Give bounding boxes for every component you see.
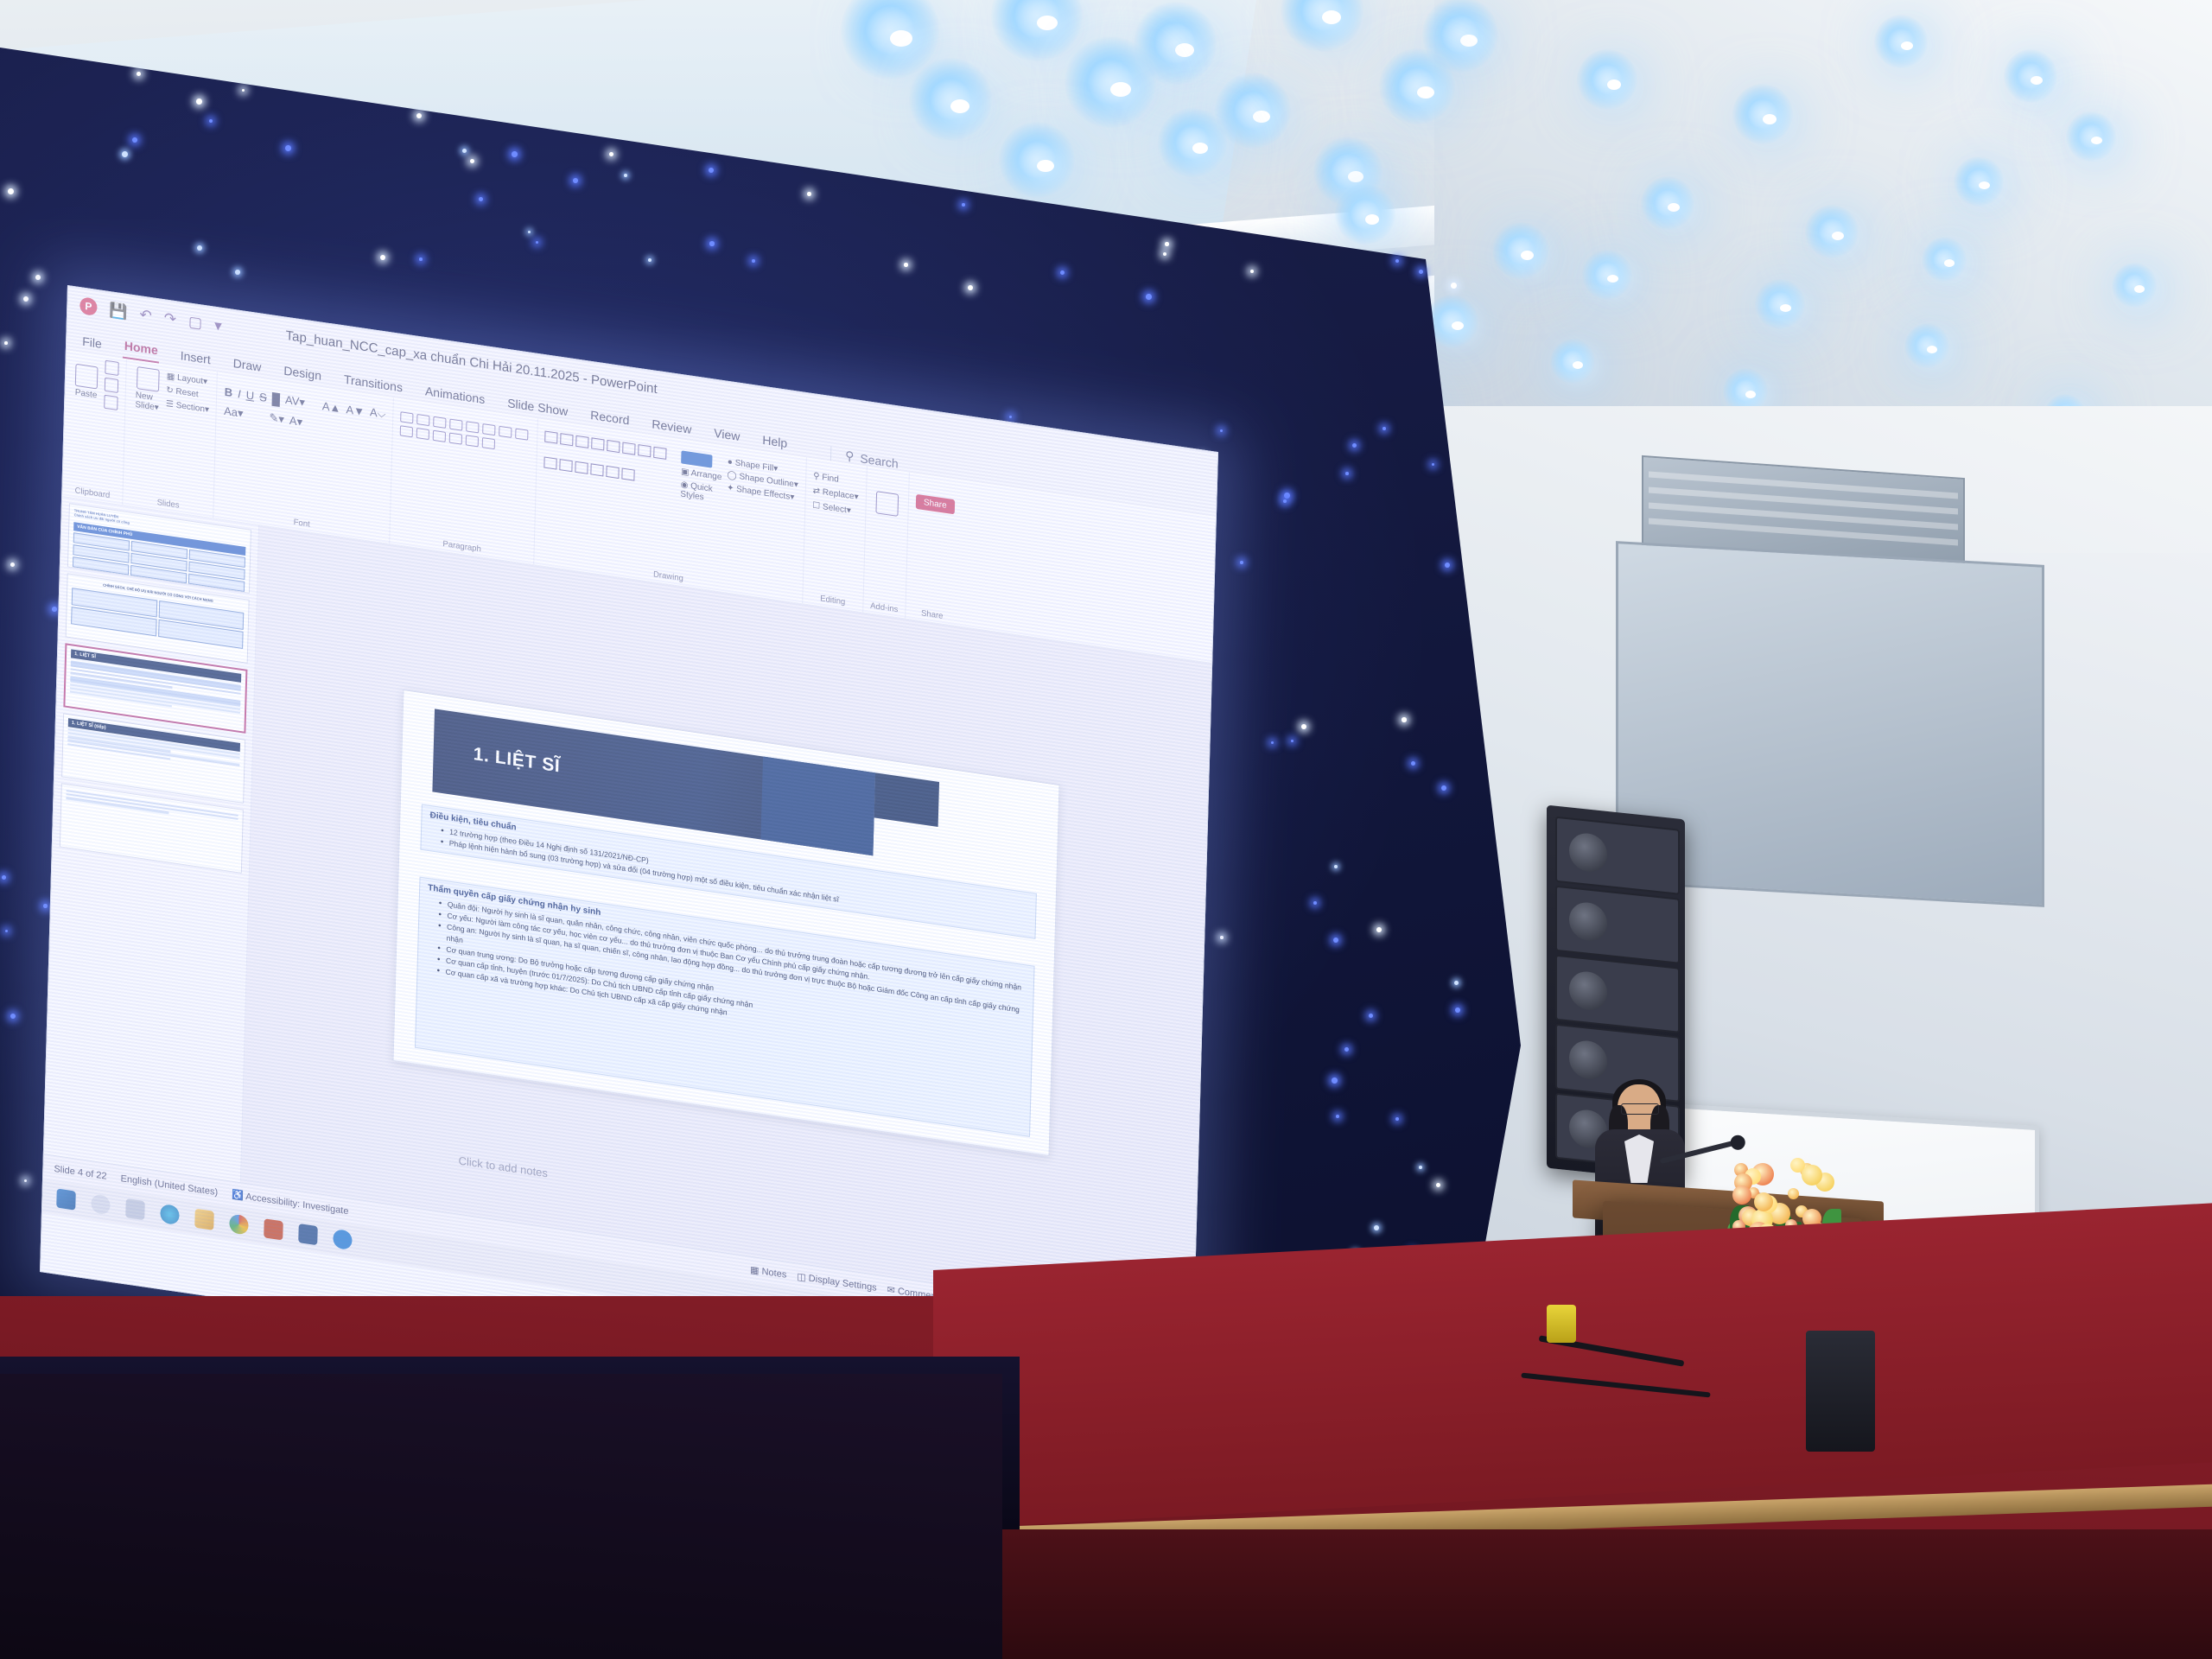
- word-icon[interactable]: [298, 1224, 318, 1245]
- star-light: [536, 241, 538, 244]
- text-highlight-button[interactable]: ✎▾: [269, 410, 284, 427]
- ceiling-downlight: [1348, 171, 1363, 182]
- star-light: [1301, 724, 1306, 729]
- star-light: [1369, 1014, 1373, 1018]
- star-light: [904, 263, 908, 267]
- ceiling-downlight: [1607, 79, 1621, 90]
- shadow-button[interactable]: █: [272, 391, 281, 405]
- ceiling-downlight: [1365, 214, 1379, 225]
- find-button[interactable]: ⚲ Find: [813, 472, 859, 488]
- star-light: [1313, 901, 1317, 905]
- present-icon[interactable]: ▢: [188, 314, 203, 330]
- star-light: [470, 159, 474, 163]
- star-light: [132, 137, 137, 143]
- select-button[interactable]: ☐ Select▾: [812, 501, 858, 518]
- share-button[interactable]: Share: [916, 494, 955, 514]
- star-light: [1334, 865, 1338, 868]
- powerpoint-logo-icon: P: [79, 296, 98, 316]
- quick-styles-button[interactable]: ◉ QuickStyles: [680, 480, 721, 505]
- speaker-cabinet-2: [1555, 886, 1680, 964]
- star-light: [1283, 499, 1287, 503]
- star-light: [285, 145, 291, 151]
- shape-scribble-icon[interactable]: [607, 465, 620, 478]
- shape-flow-icon[interactable]: [560, 459, 573, 472]
- ceiling-downlight: [2134, 285, 2145, 293]
- flower-bloom: [1754, 1192, 1773, 1211]
- star-light: [2, 875, 6, 880]
- search-icon: ⚲: [845, 448, 855, 464]
- ceiling-downlight-glow: [1582, 250, 1631, 299]
- ceiling-downlight: [1460, 35, 1478, 47]
- star-light: [1402, 717, 1407, 722]
- ceiling-downlight: [1322, 10, 1341, 24]
- replace-button[interactable]: ⇄ Replace▾: [813, 486, 859, 503]
- ceiling-downlight: [1452, 321, 1464, 330]
- slide-title-block-2: [874, 772, 939, 827]
- ribbon-group-addins[interactable]: Add-ins: [863, 467, 910, 619]
- redo-icon[interactable]: ↷: [164, 310, 177, 327]
- powerpoint-icon[interactable]: [264, 1218, 283, 1240]
- star-light: [1146, 294, 1152, 300]
- person-glasses: [1621, 1103, 1659, 1115]
- reset-button[interactable]: ↻ Reset: [166, 385, 209, 401]
- ceiling-downlight-glow: [1065, 36, 1156, 128]
- ceiling-downlight: [1573, 361, 1583, 369]
- shapes-gallery[interactable]: [543, 431, 677, 499]
- flower-bloom: [1732, 1185, 1751, 1205]
- yellow-cable-box: [1547, 1305, 1576, 1343]
- save-icon[interactable]: 💾: [109, 302, 128, 320]
- ceiling-downlight-glow: [1954, 156, 2003, 206]
- ceiling-downlight: [1832, 232, 1844, 240]
- italic-button[interactable]: I: [238, 386, 241, 400]
- star-light: [479, 197, 483, 201]
- star-light: [512, 151, 518, 157]
- floor-foreground-dark: [0, 1374, 1002, 1659]
- star-light: [752, 259, 755, 263]
- star-light: [807, 192, 811, 196]
- ceiling-downlight-glow: [909, 58, 993, 142]
- star-light: [235, 270, 240, 275]
- bullets-button[interactable]: [400, 411, 413, 423]
- star-light: [8, 188, 14, 194]
- star-light: [52, 607, 57, 612]
- columns-button[interactable]: [433, 430, 446, 442]
- ceiling-downlight: [1253, 111, 1270, 123]
- zalo-icon[interactable]: [333, 1229, 353, 1250]
- edge-icon[interactable]: [160, 1204, 180, 1225]
- strikethrough-button[interactable]: S: [259, 390, 267, 404]
- ceiling-downlight: [1668, 203, 1680, 212]
- ceiling-downlight-glow: [1732, 84, 1793, 144]
- star-light: [1352, 443, 1357, 448]
- increase-indent-button[interactable]: [449, 419, 462, 431]
- ceiling-downlight-glow: [1805, 205, 1859, 258]
- ceiling-downlight: [1745, 391, 1756, 398]
- ribbon-group-clipboard[interactable]: Paste Clipboard: [62, 350, 127, 505]
- ceiling-downlight-glow: [1755, 279, 1804, 328]
- shape-oval-icon[interactable]: [575, 435, 588, 448]
- shape-style-swatch[interactable]: [681, 450, 712, 467]
- shape-rectangle-icon[interactable]: [544, 431, 557, 444]
- notes-placeholder[interactable]: Click to add notes: [458, 1154, 548, 1179]
- ribbon-group-slides[interactable]: NewSlide▾ ▦ Layout▾ ↻ Reset ☰ Section▾ S…: [123, 359, 218, 518]
- ceiling-downlight-glow: [2066, 111, 2115, 161]
- speaker-cabinet-1: [1555, 817, 1680, 895]
- ceiling-downlight: [1944, 259, 1955, 267]
- shape-rounded-icon[interactable]: [560, 433, 573, 446]
- align-right-button[interactable]: [400, 425, 413, 437]
- shape-star-icon[interactable]: [638, 444, 651, 457]
- ceiling-downlight: [1607, 275, 1618, 283]
- ceiling-downlight: [1110, 82, 1131, 97]
- ribbon-group-editing[interactable]: ⚲ Find ⇄ Replace▾ ☐ Select▾ Editing: [803, 457, 868, 612]
- star-light: [4, 341, 8, 345]
- star-light: [419, 257, 423, 261]
- shape-arrow-icon[interactable]: [607, 440, 620, 453]
- change-case-button[interactable]: Aa▾: [224, 404, 244, 421]
- ceiling-downlight: [1521, 251, 1534, 260]
- slide-canvas[interactable]: 1. LIỆT SĨ Điều kiện, tiêu chuẩn 12 trườ…: [241, 525, 1211, 1320]
- ceiling-downlight: [1192, 143, 1208, 154]
- ceiling-downlight-glow: [1492, 222, 1549, 279]
- new-slide-icon: [137, 366, 160, 392]
- format-painter-icon[interactable]: [104, 395, 118, 410]
- ceiling-downlight-glow: [2004, 49, 2057, 103]
- justify-button[interactable]: [416, 428, 429, 440]
- ceiling-downlight: [1175, 43, 1194, 57]
- ceiling-downlight: [1417, 86, 1434, 99]
- star-light: [1455, 1007, 1460, 1013]
- decrease-font-button[interactable]: A▼: [346, 403, 365, 418]
- underline-button[interactable]: U: [246, 388, 255, 402]
- star-light: [137, 72, 141, 76]
- smartart-extra-button[interactable]: [482, 437, 495, 449]
- ribbon-group-paragraph[interactable]: Paragraph: [390, 397, 538, 564]
- section-button[interactable]: ☰ Section▾: [166, 399, 209, 415]
- ribbon-group-share[interactable]: Share Share: [906, 473, 962, 626]
- paste-icon: [75, 363, 99, 389]
- star-light: [1376, 927, 1382, 932]
- star-light: [1220, 936, 1224, 939]
- star-light: [122, 151, 128, 157]
- star-light: [23, 296, 29, 302]
- star-light: [709, 241, 715, 246]
- copy-icon[interactable]: [105, 378, 118, 393]
- shape-curve-icon[interactable]: [575, 461, 588, 474]
- slide-thumbnail-pane[interactable]: 1 TRUNG TÂM HUẤN LUYỆNChính sách ưu đãi …: [44, 497, 259, 1182]
- star-light: [1345, 472, 1349, 475]
- ceiling-downlight-glow: [999, 122, 1075, 198]
- ceiling-downlight: [1037, 16, 1058, 30]
- star-light: [1336, 1115, 1339, 1118]
- star-light: [1382, 427, 1386, 430]
- layout-button[interactable]: ▦ Layout▾: [167, 372, 210, 387]
- ceiling-downlight-glow: [1641, 176, 1694, 230]
- search-icon[interactable]: [91, 1193, 111, 1215]
- star-light: [43, 904, 48, 908]
- increase-font-button[interactable]: A▲: [322, 399, 341, 415]
- star-light: [1284, 493, 1290, 499]
- star-light: [416, 113, 422, 118]
- star-light: [962, 203, 965, 207]
- ceiling-downlight: [1979, 181, 1990, 189]
- ceiling-downlight: [1927, 346, 1937, 353]
- ceiling-downlight: [890, 30, 912, 47]
- shape-triangle-icon[interactable]: [591, 437, 604, 450]
- star-light: [609, 152, 613, 156]
- star-light: [10, 563, 15, 567]
- ceiling-downlight: [1037, 160, 1054, 172]
- star-light: [1271, 741, 1274, 744]
- current-slide[interactable]: 1. LIỆT SĨ Điều kiện, tiêu chuẩn 12 trườ…: [392, 690, 1059, 1156]
- floor-monitor-speaker: [1806, 1331, 1875, 1452]
- bold-button[interactable]: B: [224, 385, 232, 398]
- slide-title-block: [760, 756, 875, 855]
- shape-line-icon[interactable]: [622, 442, 635, 455]
- notes-button[interactable]: ▦ Notes: [750, 1264, 787, 1281]
- start-icon[interactable]: [56, 1188, 76, 1210]
- chrome-icon[interactable]: [229, 1213, 249, 1235]
- ceiling-downlight-glow: [1379, 48, 1455, 124]
- align-left-button[interactable]: [499, 426, 512, 438]
- cut-icon[interactable]: [105, 360, 118, 376]
- ceiling-downlight: [2091, 137, 2102, 144]
- star-light: [35, 275, 41, 280]
- task-view-icon[interactable]: [125, 1198, 145, 1220]
- character-spacing-button[interactable]: AV▾: [285, 393, 305, 410]
- flower-bloom: [1802, 1165, 1822, 1185]
- group-label-font: Font: [293, 518, 309, 532]
- conference-hall-photo: P 💾 ↶ ↷ ▢ ▾ Tap_huan_NCC_cap_xa chuẩn Ch…: [0, 0, 2212, 1659]
- star-light: [1451, 283, 1457, 289]
- ceiling-downlight: [1763, 114, 1777, 124]
- speaker-cabinet-3: [1555, 955, 1680, 1033]
- customize-qat-icon[interactable]: ▾: [214, 317, 222, 333]
- numbering-button[interactable]: [416, 414, 429, 426]
- star-light: [1344, 1047, 1349, 1052]
- clear-formatting-button[interactable]: A⌵: [370, 405, 386, 422]
- ceiling-downlight: [2031, 76, 2043, 85]
- new-slide-button[interactable]: NewSlide▾: [132, 364, 162, 415]
- ceiling-downlight: [950, 99, 969, 113]
- convert-smartart-button[interactable]: [466, 435, 479, 447]
- slide-counter: Slide 4 of 22: [54, 1163, 106, 1181]
- explorer-icon[interactable]: [194, 1209, 214, 1230]
- font-color-button[interactable]: A▾: [289, 414, 303, 429]
- ceiling-downlight: [1780, 304, 1791, 312]
- align-center-button[interactable]: [515, 429, 528, 441]
- ceiling-downlight-glow: [1577, 49, 1637, 110]
- star-light: [196, 99, 202, 105]
- star-light: [1411, 761, 1415, 766]
- shape-callout-icon[interactable]: [544, 456, 557, 469]
- shape-banner-icon[interactable]: [653, 447, 666, 460]
- ribbon-group-font[interactable]: B I U S █ AV▾ A▲ A▼ A⌵ Aa▾ ✎▾: [214, 372, 395, 544]
- star-light: [1332, 1077, 1338, 1084]
- flower-bloom: [1788, 1188, 1799, 1199]
- shape-freeform-icon[interactable]: [591, 463, 604, 476]
- align-text-button[interactable]: [449, 433, 462, 445]
- add-ins-icon[interactable]: [875, 491, 899, 517]
- text-direction-button[interactable]: [482, 423, 495, 435]
- slide-title: 1. LIỆT SĨ: [473, 744, 560, 778]
- star-light: [1454, 981, 1459, 985]
- ceiling-downlight-glow: [1874, 15, 1928, 68]
- star-light: [1060, 270, 1065, 275]
- decrease-indent-button[interactable]: [433, 416, 446, 429]
- star-light: [1165, 242, 1169, 246]
- undo-icon[interactable]: ↶: [139, 307, 152, 323]
- line-spacing-button[interactable]: [466, 421, 479, 433]
- star-light: [573, 178, 578, 183]
- ceiling-downlight-glow: [1158, 108, 1226, 176]
- star-light: [1419, 1166, 1422, 1169]
- ceiling-downlight: [1901, 41, 1913, 50]
- shape-more-icon[interactable]: [622, 467, 635, 480]
- ceiling-downlight-glow: [1335, 184, 1395, 245]
- paste-button[interactable]: Paste: [72, 361, 100, 403]
